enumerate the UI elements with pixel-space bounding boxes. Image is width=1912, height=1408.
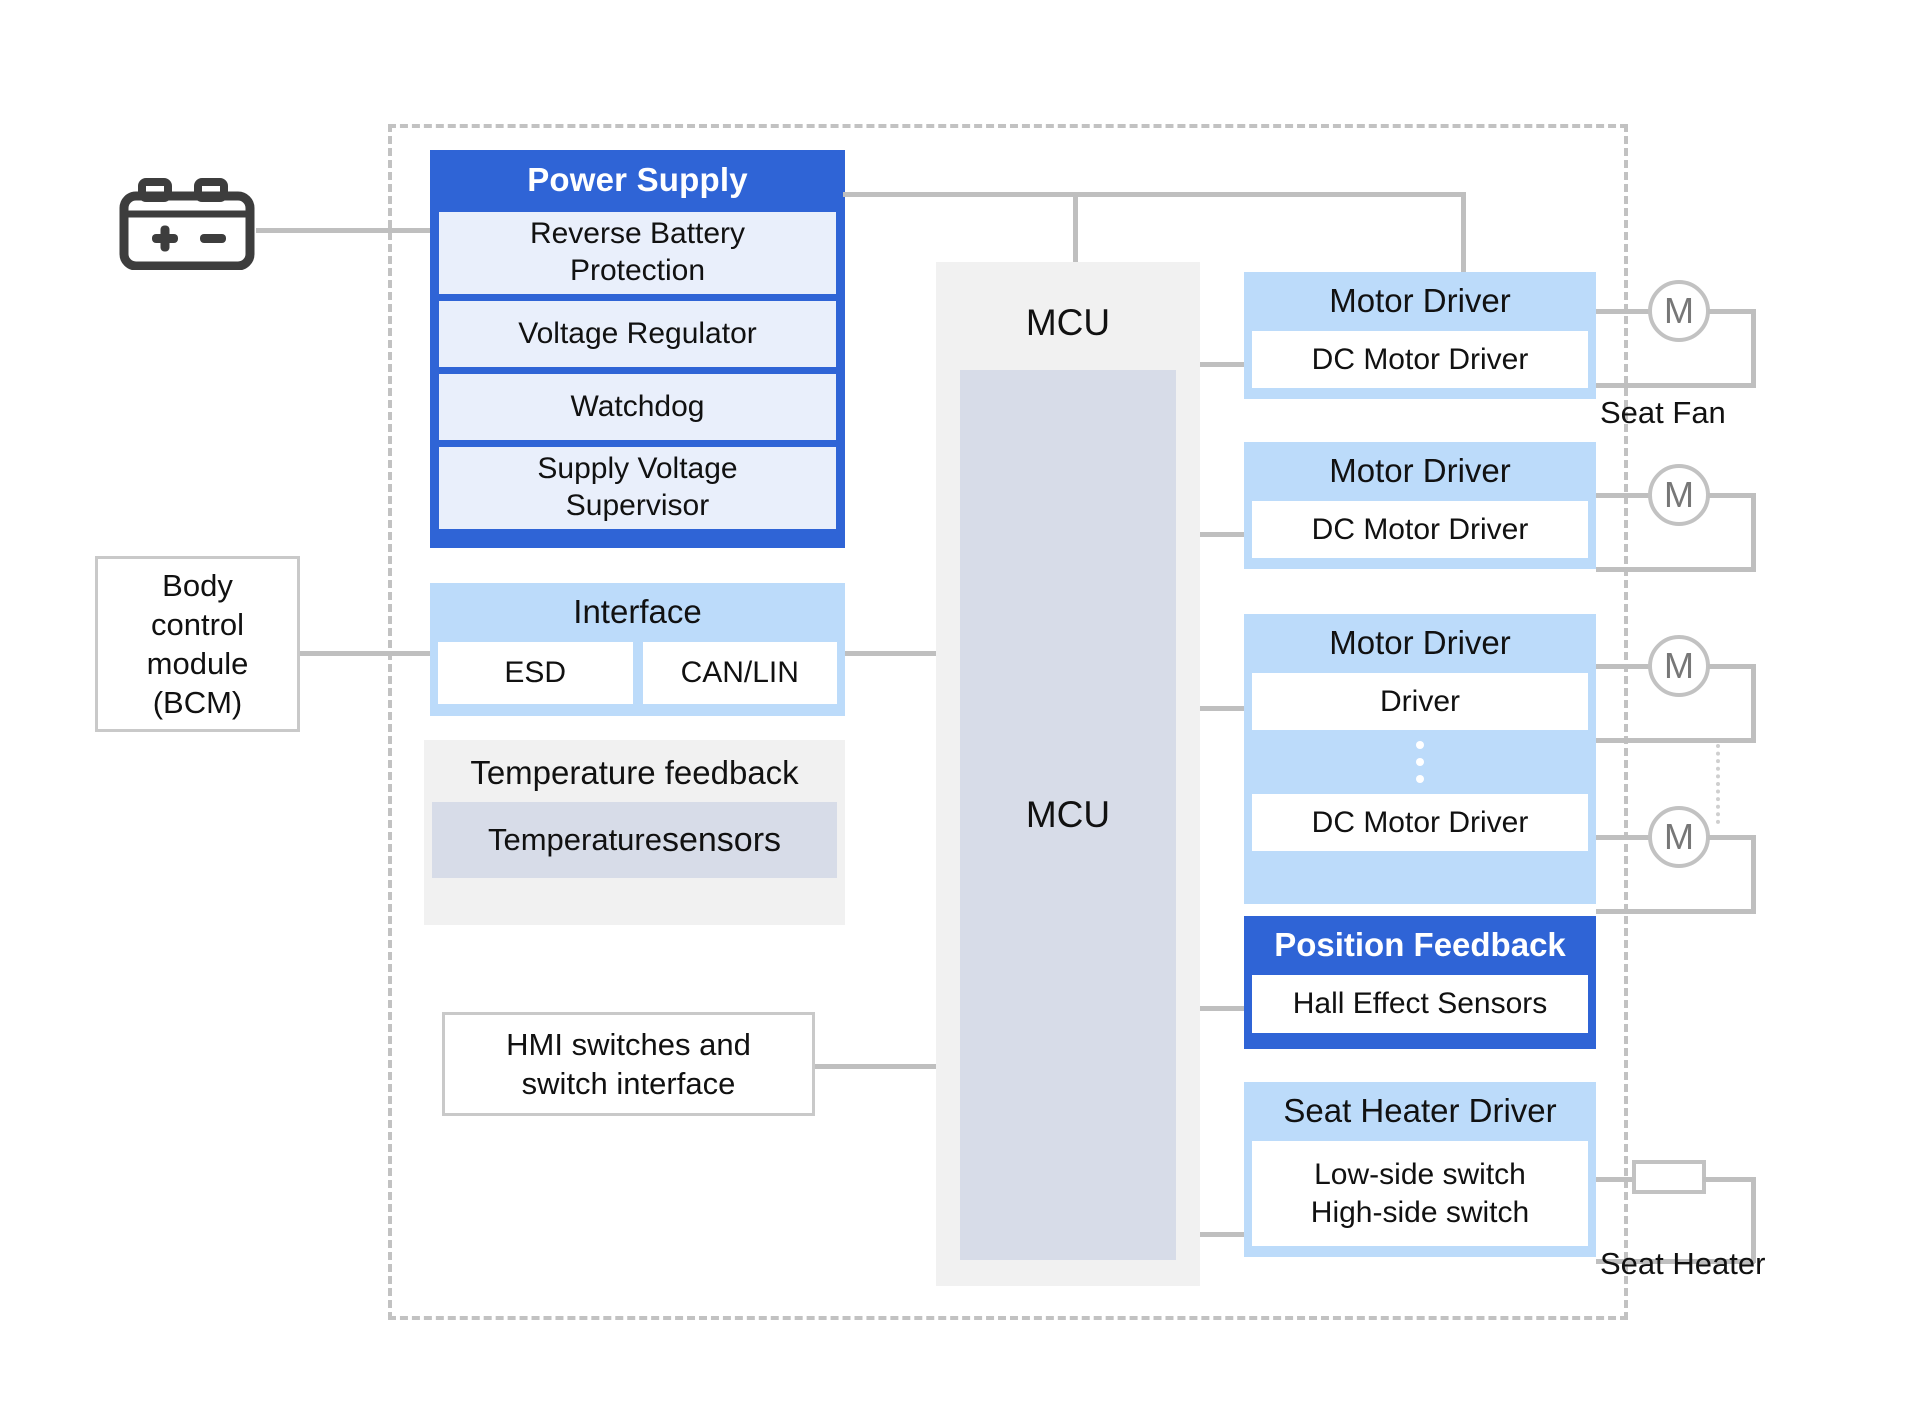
wire-motor-2-loop-bottom	[1596, 567, 1756, 572]
hmi-switches-box: HMI switches and switch interface	[442, 1012, 815, 1116]
motor-symbol-1-label: M	[1664, 290, 1694, 332]
interface-block: Interface ESD CAN/LIN	[430, 583, 845, 716]
mcu-title: MCU	[1026, 262, 1110, 344]
hall-effect-sensors-item: Hall Effect Sensors	[1252, 975, 1588, 1033]
bcm-label-line4: (BCM)	[153, 683, 243, 722]
wire-mcu-to-motor-driver-2	[1200, 532, 1244, 537]
motor-driver-2-inner: DC Motor Driver	[1252, 501, 1588, 558]
motor-symbol-2: M	[1648, 464, 1710, 526]
reverse-battery-protection-line2: Protection	[570, 253, 705, 290]
motor-symbol-4-label: M	[1664, 816, 1694, 858]
motor-driver-block-3: Motor Driver Driver DC Motor Driver	[1244, 614, 1596, 904]
wire-motor-driver-3-to-motor-4	[1596, 835, 1652, 840]
motor-driver-block-2: Motor Driver DC Motor Driver	[1244, 442, 1596, 569]
esd-item: ESD	[438, 642, 633, 704]
supply-voltage-supervisor-item: Supply Voltage Supervisor	[439, 447, 836, 529]
temperature-feedback-title: Temperature feedback	[432, 740, 837, 802]
mcu-block: MCU MCU	[936, 262, 1200, 1286]
interface-title: Interface	[438, 583, 837, 642]
position-feedback-title: Position Feedback	[1252, 916, 1588, 975]
voltage-regulator-item: Voltage Regulator	[439, 301, 836, 367]
wire-motor-1-loop-right	[1751, 309, 1756, 387]
mcu-core: MCU	[960, 370, 1176, 1260]
wire-seat-heater-loop-top	[1703, 1177, 1755, 1182]
wire-motor-4-loop-right	[1751, 835, 1756, 913]
wire-motor-3-loop-right	[1751, 664, 1756, 742]
seat-heater-driver-inner: Low-side switch High-side switch	[1252, 1141, 1588, 1246]
temperature-feedback-block: Temperature feedback Temperature sensors	[424, 740, 845, 925]
car-battery-icon	[118, 178, 256, 270]
temperature-sensors-word1: Temperature	[488, 822, 662, 858]
wire-motor-4-loop-bottom	[1596, 909, 1756, 914]
motor-driver-3-inner-top: Driver	[1252, 673, 1588, 730]
wire-bcm-to-interface	[300, 651, 436, 656]
wire-hmi-to-mcu	[815, 1064, 945, 1069]
power-supply-title: Power Supply	[439, 150, 836, 212]
seat-fan-label: Seat Fan	[1600, 395, 1726, 431]
wire-motor-1-loop-bottom	[1596, 383, 1756, 388]
wire-mcu-to-position-feedback	[1200, 1006, 1244, 1011]
temperature-sensors-word2: sensors	[662, 821, 781, 860]
wire-battery-to-power-supply	[256, 228, 434, 233]
motor-driver-3-inner-bottom: DC Motor Driver	[1252, 794, 1588, 851]
canlin-item: CAN/LIN	[643, 642, 838, 704]
motor-series-continuation-dots	[1716, 744, 1720, 824]
power-supply-block: Power Supply Reverse Battery Protection …	[430, 150, 845, 548]
wire-motor-3-loop-bottom	[1596, 738, 1756, 743]
motor-driver-1-inner: DC Motor Driver	[1252, 331, 1588, 388]
motor-symbol-1: M	[1648, 280, 1710, 342]
seat-heater-driver-block: Seat Heater Driver Low-side switch High-…	[1244, 1082, 1596, 1257]
motor-driver-block-1: Motor Driver DC Motor Driver	[1244, 272, 1596, 399]
wire-interface-to-mcu	[845, 651, 945, 656]
motor-symbol-4: M	[1648, 806, 1710, 868]
motor-driver-1-title: Motor Driver	[1252, 272, 1588, 331]
vertical-ellipsis-icon	[1252, 730, 1588, 794]
seat-heater-low-side: Low-side switch	[1314, 1156, 1526, 1194]
bcm-label-line3: module	[147, 644, 249, 683]
hmi-label-line2: switch interface	[522, 1064, 736, 1103]
seat-heater-high-side: High-side switch	[1311, 1194, 1529, 1232]
reverse-battery-protection-line1: Reverse Battery	[530, 216, 745, 253]
temperature-sensors-item: Temperature sensors	[432, 802, 837, 878]
diagram-canvas: Body control module (BCM) Power Supply R…	[0, 0, 1912, 1408]
wire-motor-2-loop-right	[1751, 493, 1756, 571]
position-feedback-block: Position Feedback Hall Effect Sensors	[1244, 916, 1596, 1049]
wire-power-rail-to-mcu	[1073, 192, 1078, 264]
wire-motor-1-loop-top	[1708, 309, 1756, 314]
bcm-label-line2: control	[151, 605, 244, 644]
seat-heater-driver-title: Seat Heater Driver	[1252, 1082, 1588, 1141]
wire-power-rail-to-motor-column	[1461, 192, 1466, 272]
body-control-module-box: Body control module (BCM)	[95, 556, 300, 732]
supply-voltage-supervisor-line2: Supervisor	[566, 488, 709, 525]
motor-symbol-2-label: M	[1664, 474, 1694, 516]
wire-motor-driver-1-to-motor-1	[1596, 309, 1652, 314]
motor-driver-3-title: Motor Driver	[1252, 614, 1588, 673]
motor-driver-2-title: Motor Driver	[1252, 442, 1588, 501]
wire-motor-driver-2-to-motor-2	[1596, 493, 1652, 498]
wire-mcu-to-seat-heater-driver	[1200, 1232, 1244, 1237]
motor-symbol-3-label: M	[1664, 645, 1694, 687]
supply-voltage-supervisor-line1: Supply Voltage	[537, 451, 737, 488]
wire-motor-3-loop-top	[1708, 664, 1756, 669]
seat-heater-label: Seat Heater	[1600, 1246, 1765, 1282]
watchdog-item: Watchdog	[439, 374, 836, 440]
wire-motor-4-loop-top	[1708, 835, 1756, 840]
hmi-label-line1: HMI switches and	[506, 1025, 751, 1064]
bcm-label-line1: Body	[162, 566, 233, 605]
wire-mcu-to-motor-driver-1	[1200, 362, 1244, 367]
wire-motor-2-loop-top	[1708, 493, 1756, 498]
motor-symbol-3: M	[1648, 635, 1710, 697]
wire-power-rail-top	[843, 192, 1466, 197]
wire-mcu-to-motor-driver-3	[1200, 706, 1244, 711]
seat-heater-resistor-symbol	[1632, 1160, 1706, 1194]
wire-motor-driver-3-to-motor-3	[1596, 664, 1652, 669]
reverse-battery-protection-item: Reverse Battery Protection	[439, 212, 836, 294]
